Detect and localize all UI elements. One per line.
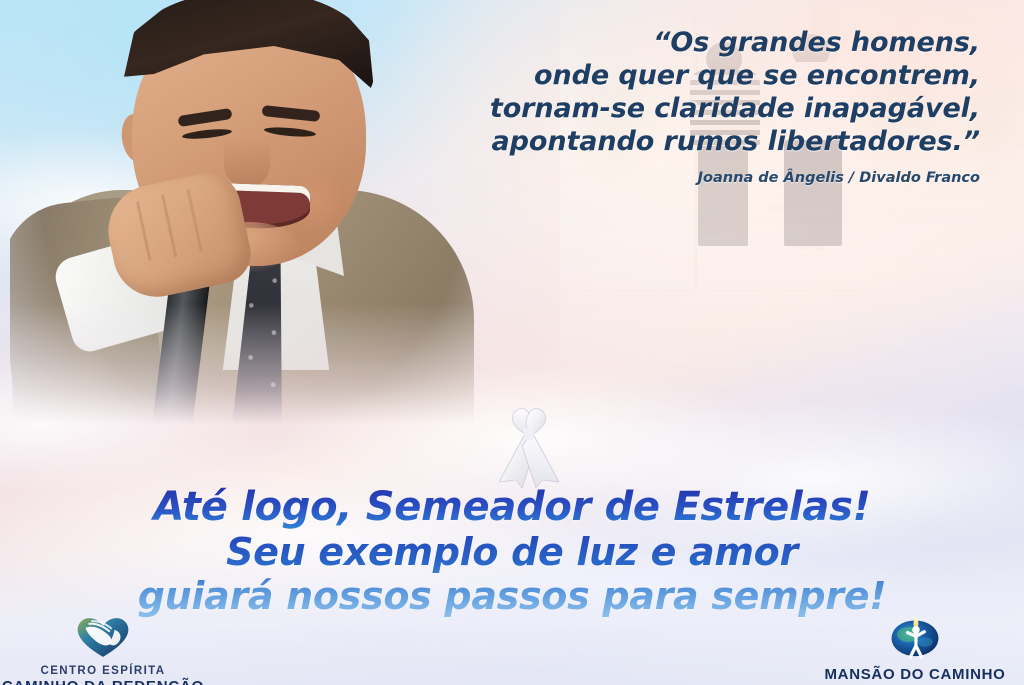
quote-line-4: apontando rumos libertadores.”: [420, 125, 980, 158]
white-awareness-ribbon-icon: [492, 406, 566, 488]
logo-left-line-2: CAMINHO DA REDENÇÃO: [0, 678, 206, 685]
memorial-poster: “Os grandes homens, onde quer que se enc…: [0, 0, 1024, 685]
headline-block: Até logo, Semeador de Estrelas! Seu exem…: [0, 484, 1024, 618]
quote-line-1: “Os grandes homens,: [420, 26, 980, 59]
heart-hands-icon: [0, 614, 206, 664]
quote-line-3: tornam-se claridade inapagável,: [420, 92, 980, 125]
microphone-body: [151, 274, 210, 436]
man-with-microphone-photo: [10, 0, 480, 424]
quote-attribution: Joanna de Ângelis / Divaldo Franco: [420, 170, 980, 186]
portrait-nose: [224, 140, 270, 188]
globe-figure-icon: [812, 610, 1018, 664]
logo-left-line-1: CENTRO ESPÍRITA: [0, 665, 206, 677]
headline-line-1: Até logo, Semeador de Estrelas!: [0, 484, 1024, 530]
logo-mansao-do-caminho: MANSÃO DO CAMINHO: [812, 610, 1018, 683]
quote-text: “Os grandes homens, onde quer que se enc…: [420, 26, 980, 158]
headline-line-2: Seu exemplo de luz e amor: [0, 530, 1024, 574]
logo-centro-espirita: CENTRO ESPÍRITA CAMINHO DA REDENÇÃO: [0, 614, 206, 685]
figure-legs: [698, 146, 748, 246]
quote-line-2: onde quer que se encontrem,: [420, 59, 980, 92]
scene-fence: [860, 270, 990, 340]
logo-right-line-1: MANSÃO DO CAMINHO: [812, 666, 1018, 683]
